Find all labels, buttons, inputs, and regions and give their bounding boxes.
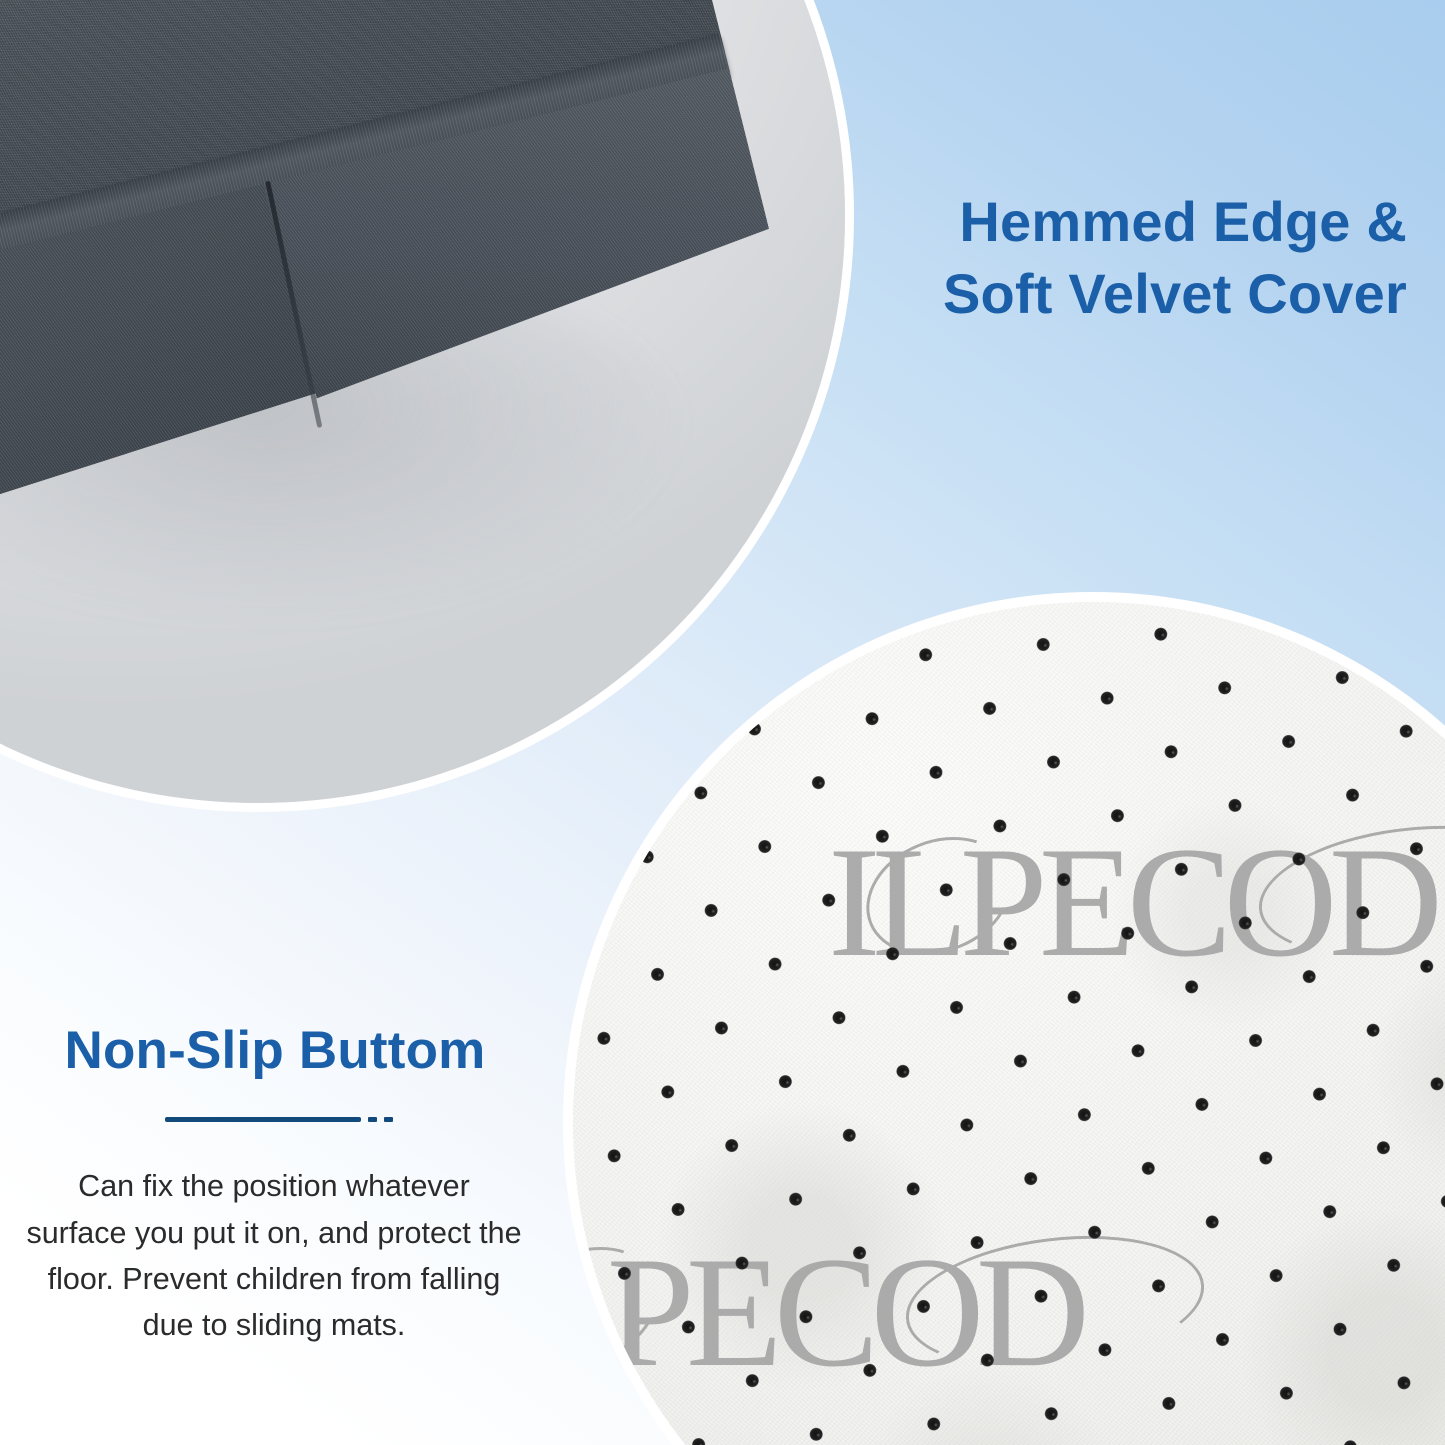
divider-bar [165, 1117, 361, 1122]
product-photo-non-slip-bottom: ILPECOD ILPECOD ILPECOD [573, 602, 1445, 1445]
feature-title: Non-Slip Buttom [0, 1022, 540, 1080]
feature-divider [0, 1117, 540, 1122]
divider-dash [384, 1117, 393, 1122]
promo-canvas: ILPECOD ILPECOD ILPECOD Hemmed Edge & So… [0, 0, 1445, 1445]
headline-hemmed-edge: Hemmed Edge & Soft Velvet Cover [943, 186, 1407, 330]
divider-dash [368, 1117, 377, 1122]
feature-block-non-slip: Non-Slip Buttom Can fix the position wha… [0, 1022, 540, 1349]
anti-slip-dot-pattern [573, 602, 1445, 1445]
feature-description: Can fix the position whatever surface yo… [0, 1163, 540, 1348]
